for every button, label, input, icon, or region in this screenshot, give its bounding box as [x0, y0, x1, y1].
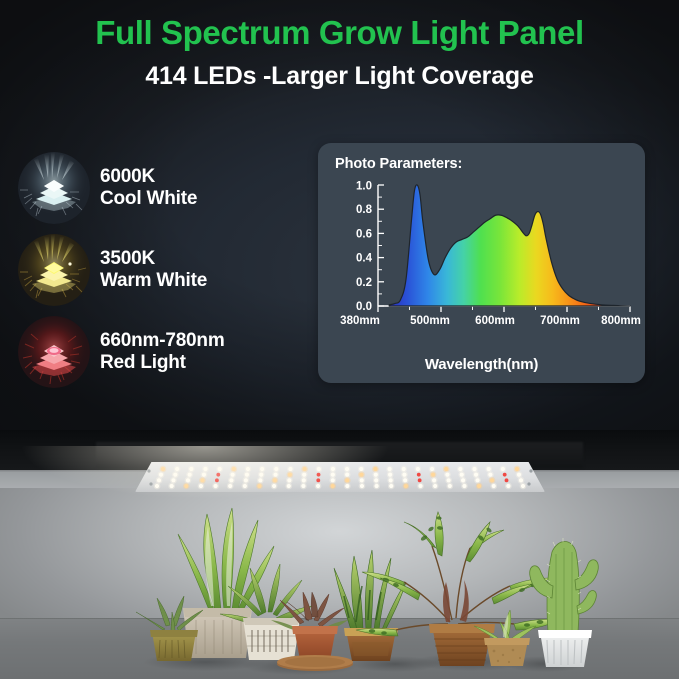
photo-parameters-panel: Photo Parameters: [318, 143, 645, 383]
x-axis-major-ticks [378, 306, 630, 312]
feature-label-cool-white: 6000K Cool White [100, 166, 197, 210]
snake-plant-in-brass-pot [334, 550, 406, 661]
x-axis-tick-labels: 380mm 500mm 600mm 700mm 800mm [340, 315, 641, 327]
x-tick-label: 800mm [601, 315, 641, 327]
cactus-in-white-fluted-pot [530, 538, 599, 667]
y-tick-label: 0.8 [356, 204, 373, 216]
spectrum-chart: 0.0 0.2 0.4 0.6 0.8 1.0 380mm 500mm 600m… [318, 143, 645, 383]
plant-collection [0, 490, 679, 679]
x-tick-label: 700mm [540, 315, 580, 327]
y-axis-tick-labels: 0.0 0.2 0.4 0.6 0.8 1.0 [356, 181, 373, 314]
led-chip-red-light-icon [18, 316, 90, 388]
feature-label-red-light: 660nm-780nm Red Light [100, 330, 225, 374]
feature-line2: Cool White [100, 188, 197, 210]
y-tick-label: 0.4 [356, 253, 373, 265]
led-chip-cool-white-icon [18, 152, 90, 224]
y-tick-label: 0.0 [356, 301, 372, 313]
feature-item-cool-white: 6000K Cool White [18, 152, 308, 224]
x-tick-label: 500mm [410, 315, 450, 327]
led-grow-light-panel [135, 462, 545, 492]
feature-item-warm-white: 3500K Warm White [18, 234, 308, 306]
feature-line2: Red Light [100, 352, 225, 374]
feature-label-warm-white: 3500K Warm White [100, 248, 207, 292]
feature-line1: 6000K [100, 166, 197, 188]
product-photo [0, 430, 679, 679]
y-tick-label: 0.6 [356, 228, 372, 240]
page-title: Full Spectrum Grow Light Panel [0, 14, 679, 52]
feature-line2: Warm White [100, 270, 207, 292]
feature-item-red-light: 660nm-780nm Red Light [18, 316, 308, 388]
y-tick-label: 0.2 [356, 277, 372, 289]
feature-line1: 660nm-780nm [100, 330, 225, 352]
infographic-page: Full Spectrum Grow Light Panel 414 LEDs … [0, 0, 679, 679]
feature-list: 6000K Cool White [18, 152, 308, 398]
x-tick-label: 600mm [475, 315, 515, 327]
led-diode-grid [135, 462, 545, 492]
page-subtitle: 414 LEDs -Larger Light Coverage [0, 62, 679, 91]
feature-line1: 3500K [100, 248, 207, 270]
spectrum-curve [389, 185, 630, 306]
chart-x-axis-label: Wavelength(nm) [318, 356, 645, 373]
x-tick-label: 380mm [340, 315, 380, 327]
led-chip-warm-white-icon [18, 234, 90, 306]
y-tick-label: 1.0 [356, 181, 372, 193]
